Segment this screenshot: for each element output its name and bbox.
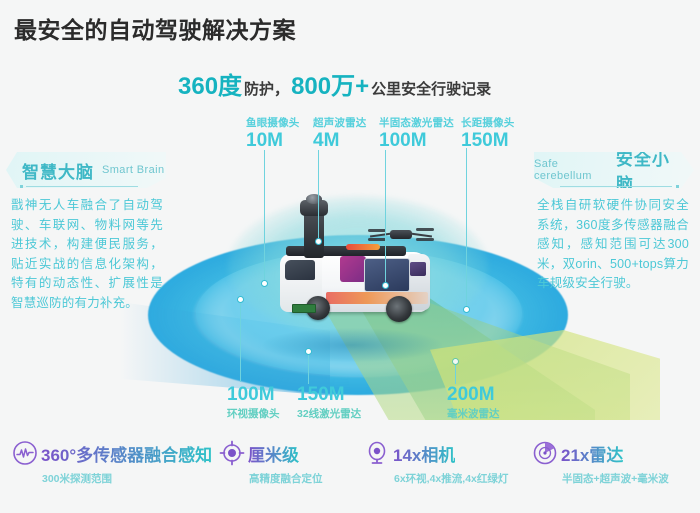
badge-safe-cerebellum: Safe cerebellum 安全小脑	[534, 152, 694, 188]
subtitle-360: 360度	[178, 66, 242, 101]
vehicle-windshield	[285, 260, 315, 280]
sensor-value: 100M	[379, 131, 454, 151]
sensor-label-long-range-camera: 长距摄像头 150M	[461, 115, 515, 151]
sensor-name: 32线激光雷达	[297, 406, 361, 421]
connector-line-ultrasonic	[318, 150, 319, 240]
sensor-name: 环视摄像头	[227, 406, 280, 421]
feature-item-centimeter: 厘米级 高精度融合定位	[219, 440, 323, 486]
drone-propeller	[416, 238, 434, 241]
infographic-root: 最安全的自动驾驶解决方案 360度 防护， 800万+ 公里安全行驶记录	[0, 0, 700, 513]
smart-brain-description: 戬神无人车融合了自动驾驶、车联网、物料网等先进技术，构建便民服务，贴近实战的信息…	[11, 196, 163, 313]
connector-line-longcam	[466, 148, 467, 308]
badge-tick-right	[676, 185, 679, 188]
connector-dot-longcam	[463, 306, 470, 313]
vehicle-rear-panel	[410, 262, 426, 276]
feature-subtitle: 高精度融合定位	[249, 471, 323, 486]
camera-icon	[364, 440, 390, 466]
feature-subtitle: 6x环视,4x推流,4x红绿灯	[394, 471, 508, 486]
connector-line-surround-cam	[240, 300, 241, 382]
badge-title-cn: 安全小脑	[616, 145, 678, 195]
subtitle-record: 公里安全行驶记录	[371, 78, 491, 99]
sensor-label-surround-camera: 100M 环视摄像头	[227, 385, 280, 421]
connector-dot-surround-cam	[237, 296, 244, 303]
connector-dot-mmwave	[452, 358, 459, 365]
sensor-label-solid-state-lidar: 半固态激光雷达 100M	[379, 115, 454, 151]
feature-item-cameras: 14x相机 6x环视,4x推流,4x红绿灯	[364, 440, 508, 486]
connector-line-mmwave	[455, 362, 456, 384]
badge-title-en: Smart Brain	[102, 164, 164, 176]
drone-body	[390, 230, 412, 239]
sensor-value: 200M	[447, 385, 500, 405]
waveform-circle-icon	[12, 440, 38, 466]
connector-line-lidar32	[308, 352, 309, 384]
badge-underline-right	[560, 186, 672, 187]
feature-subtitle: 300米探测范围	[42, 471, 212, 486]
feature-title: 厘米级	[248, 441, 299, 466]
radar-sweep-icon	[532, 440, 558, 466]
sensor-label-millimeter-wave-radar: 200M 毫米波雷达	[447, 385, 500, 421]
badge-smart-brain: 智慧大脑 Smart Brain	[6, 152, 166, 188]
connector-dot-fisheye	[261, 280, 268, 287]
sensor-value: 10M	[246, 131, 300, 151]
feature-bar: 360°多传感器融合感知 300米探测范围 厘米级 高精度融合定位	[0, 440, 700, 513]
sensor-value: 4M	[313, 131, 367, 151]
vehicle-license-plate	[292, 304, 316, 313]
badge-tick-left	[20, 185, 23, 188]
connector-dot-lidar32	[305, 348, 312, 355]
vehicle-livery-stripe	[340, 256, 366, 282]
feature-item-360-fusion: 360°多传感器融合感知 300米探测范围	[12, 440, 212, 486]
badge-title-en: Safe cerebellum	[534, 158, 608, 182]
subtitle-mileage: 800万+	[291, 66, 369, 101]
drone-propeller	[368, 238, 386, 241]
badge-title-cn: 智慧大脑	[22, 158, 94, 183]
feature-title: 360°多传感器融合感知	[41, 441, 212, 466]
vehicle-sensor-mast	[304, 212, 324, 258]
sensor-value: 150M	[297, 385, 361, 405]
vehicle-lidar-dome	[306, 194, 322, 204]
page-title: 最安全的自动驾驶解决方案	[14, 11, 296, 45]
sensor-name: 毫米波雷达	[447, 406, 500, 421]
sensor-label-fisheye: 鱼眼摄像头 10M	[246, 115, 300, 151]
companion-drone	[370, 222, 432, 248]
sensor-value: 150M	[461, 131, 515, 151]
badge-underline-left	[26, 186, 138, 187]
vehicle-rear-wheel	[386, 296, 412, 322]
sensor-name: 鱼眼摄像头	[246, 115, 300, 130]
feature-item-radars: 21x雷达 半固态+超声波+毫米波	[532, 440, 669, 486]
sensor-name: 超声波雷达	[313, 115, 367, 130]
sensor-label-lidar-32-line: 150M 32线激光雷达	[297, 385, 361, 421]
drone-propeller	[368, 229, 386, 232]
drone-propeller	[416, 228, 434, 231]
drone-arm-left	[370, 232, 392, 237]
crosshair-target-icon	[219, 440, 245, 466]
connector-line-fisheye	[264, 150, 265, 282]
connector-line-lidar-solid	[385, 150, 386, 284]
feature-title: 14x相机	[393, 441, 455, 466]
sensor-name: 半固态激光雷达	[379, 115, 454, 130]
sensor-name: 长距摄像头	[461, 115, 515, 130]
vehicle-side-skirt	[326, 292, 428, 304]
sensor-label-ultrasonic: 超声波雷达 4M	[313, 115, 367, 151]
sensor-value: 100M	[227, 385, 280, 405]
safe-cerebellum-description: 全栈自研软硬件协同安全系统，360度多传感器融合感知，感知范围可达300米，双o…	[537, 196, 689, 294]
autonomous-vehicle	[268, 192, 446, 342]
subtitle: 360度 防护， 800万+ 公里安全行驶记录	[178, 66, 493, 101]
drone-arm-right	[410, 232, 432, 237]
connector-dot-ultrasonic	[315, 238, 322, 245]
feature-title: 21x雷达	[561, 441, 623, 466]
feature-subtitle: 半固态+超声波+毫米波	[562, 471, 669, 486]
subtitle-protect: 防护，	[244, 78, 289, 99]
connector-dot-lidar-solid	[382, 282, 389, 289]
